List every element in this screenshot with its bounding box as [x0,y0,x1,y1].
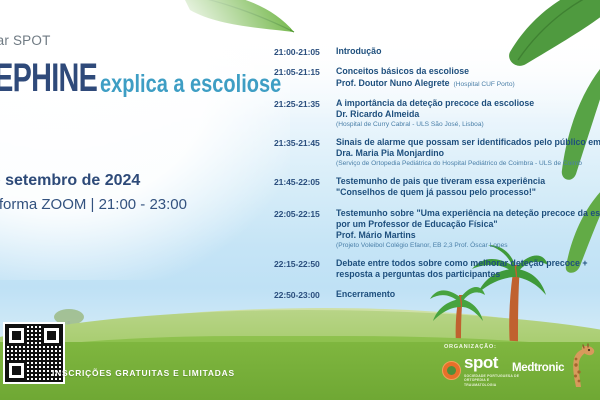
spot-logo: spot SOCIEDADE PORTUGUESA DE ORTOPEDIA E… [442,355,520,387]
registration-note: INSCRIÇÕES GRATUITAS E LIMITADAS [52,368,235,378]
agenda-speaker: Dr. Ricardo Almeida [336,109,600,121]
agenda-body: Conceitos básicos da escolioseProf. Dout… [336,66,600,89]
agenda-speaker: "Conselhos de quem já passou pelo proces… [336,187,600,199]
spot-wordmark: spot [464,353,498,372]
spot-tagline: SOCIEDADE PORTUGUESA DE ORTOPEDIA E TRAU… [464,374,520,387]
agenda-row: 22:50-23:00Encerramento [274,289,600,300]
agenda-row: 21:45-22:05Testemunho de pais que tivera… [274,176,600,199]
webinar-poster: binar SPOT OSEPHINE explica a escoliose … [0,0,600,400]
agenda-topic: Sinais de alarme que possam ser identifi… [336,137,600,148]
agenda-time: 21:35-21:45 [274,137,336,167]
agenda-topic-line2: resposta a perguntas dos participantes [336,269,600,280]
agenda-affiliation: (Projeto Voleibol Colégio Efanor, EB 2,3… [336,242,600,249]
agenda-time: 22:50-23:00 [274,289,336,300]
organization-label: ORGANIZAÇÃO: [444,344,497,350]
agenda-speaker-name: Dr. Ricardo Almeida [336,109,419,119]
agenda-row: 21:00-21:05Introdução [274,46,600,57]
agenda-time: 21:45-22:05 [274,176,336,199]
agenda-affiliation: (Hospital CUF Porto) [454,81,515,88]
agenda-topic-line2: por um Professor de Educação Física" [336,219,600,230]
agenda-topic: Conceitos básicos da escoliose [336,66,600,77]
agenda-speaker: Prof. Mário Martins [336,230,600,242]
agenda-time: 22:15-22:50 [274,258,336,281]
agenda-time: 21:05-21:15 [274,66,336,89]
agenda-row: 22:15-22:50Debate entre todos sobre como… [274,258,600,281]
webinar-kicker: binar SPOT [0,33,51,48]
page-title: OSEPHINE [0,56,97,101]
page-subtitle: explica a escoliose [100,70,281,99]
agenda-affiliation: (Serviço de Ortopedia Pediátrica do Hosp… [336,160,600,167]
agenda-affiliation: (Hospital de Curry Cabral - ULS São José… [336,121,600,128]
agenda-speaker: Prof. Doutor Nuno Alegrete(Hospital CUF … [336,78,600,90]
agenda-body: Sinais de alarme que possam ser identifi… [336,137,600,167]
agenda-speaker-name: Prof. Doutor Nuno Alegrete [336,78,450,88]
agenda-topic: Testemunho sobre "Uma experiência na det… [336,208,600,219]
event-date: de setembro de 2024 [0,172,140,190]
agenda-speaker: Dra. Maria Pia Monjardino [336,148,600,160]
agenda-topic: Debate entre todos sobre como melhorar d… [336,258,600,269]
agenda-body: Introdução [336,46,600,57]
agenda-body: Encerramento [336,289,600,300]
agenda-topic: Introdução [336,46,600,57]
agenda-time: 21:25-21:35 [274,98,336,128]
agenda-speaker-name: Prof. Mário Martins [336,230,416,240]
agenda-speaker-name: "Conselhos de quem já passou pelo proces… [336,187,536,197]
agenda-row: 21:05-21:15Conceitos básicos da escolios… [274,66,600,89]
agenda-row: 21:35-21:45Sinais de alarme que possam s… [274,137,600,167]
agenda-row: 21:25-21:35A importância da deteção prec… [274,98,600,128]
agenda-topic: Testemunho de pais que tiveram essa expe… [336,176,600,187]
agenda-list: 21:00-21:05Introdução21:05-21:15Conceito… [274,46,600,310]
agenda-body: Testemunho sobre "Uma experiência na det… [336,208,600,249]
agenda-row: 22:05-22:15Testemunho sobre "Uma experiê… [274,208,600,249]
agenda-time: 21:00-21:05 [274,46,336,57]
medtronic-logo: Medtronic [512,362,564,374]
agenda-time: 22:05-22:15 [274,208,336,249]
agenda-topic: Encerramento [336,289,600,300]
agenda-body: Debate entre todos sobre como melhorar d… [336,258,600,281]
event-platform: ataforma ZOOM | 21:00 - 23:00 [0,196,187,213]
spot-mark-icon [442,361,461,380]
agenda-body: Testemunho de pais que tiveram essa expe… [336,176,600,199]
agenda-topic: A importância da deteção precoce da esco… [336,98,600,109]
agenda-body: A importância da deteção precoce da esco… [336,98,600,128]
agenda-speaker-name: Dra. Maria Pia Monjardino [336,148,444,158]
